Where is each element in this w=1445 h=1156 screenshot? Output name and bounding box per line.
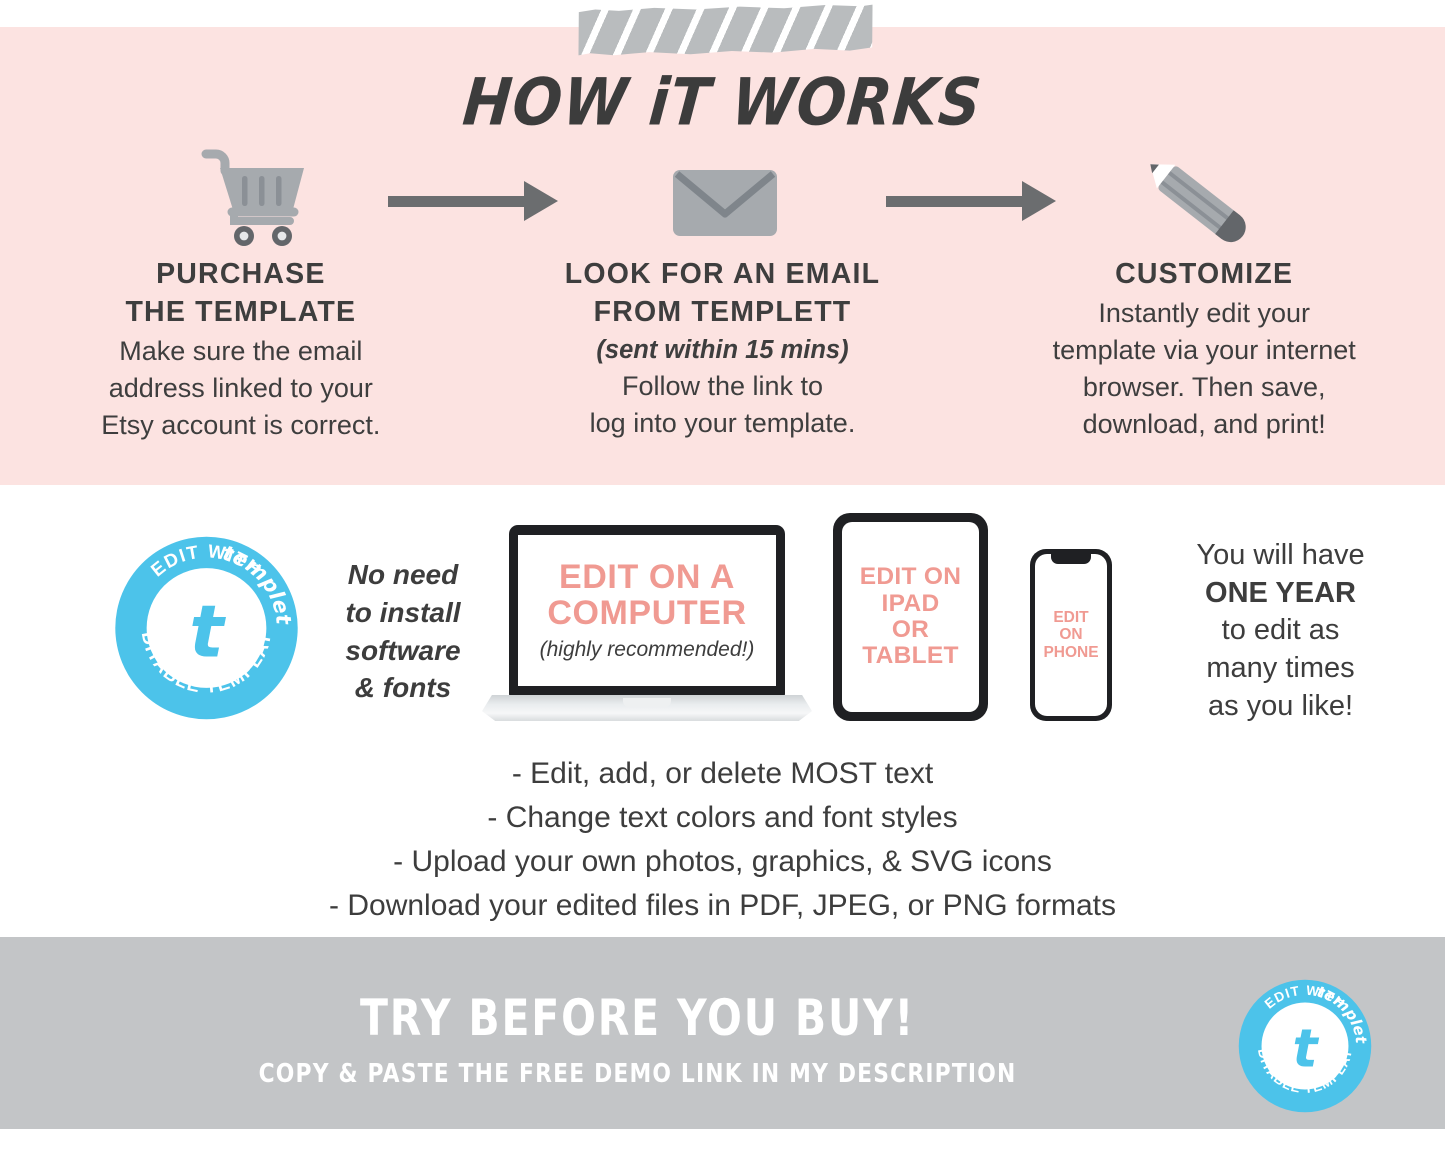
phone-mockup: EDIT ON PHONE: [1030, 549, 1112, 721]
tablet-screen-heading: EDIT ON IPAD OR TABLET: [860, 564, 961, 670]
laptop-mockup: EDIT ON A COMPUTER (highly recommended!): [482, 525, 812, 730]
phone-screen-heading: EDIT ON PHONE: [1043, 609, 1098, 661]
steps-row: PURCHASE THE TEMPLATE Make sure the emai…: [0, 256, 1445, 444]
phone-screen: EDIT ON PHONE: [1035, 554, 1107, 716]
laptop-screen-heading: EDIT ON A COMPUTER: [547, 559, 746, 631]
step-italic-note: (sent within 15 mins): [496, 333, 950, 368]
templett-badge: t EDIT WITH templett EDITABLE TEMPLATE: [104, 533, 309, 723]
footer-subline: COPY & PASTE THE FREE DEMO LINK IN MY DE…: [102, 1059, 1173, 1089]
tablet-mockup: EDIT ON IPAD OR TABLET: [833, 513, 988, 721]
list-item: - Upload your own photos, graphics, & SV…: [0, 840, 1445, 884]
templett-badge-footer: t EDIT WITH templett EDITABLE TEMPLATE: [1232, 977, 1378, 1115]
list-item: - Edit, add, or delete MOST text: [0, 752, 1445, 796]
tablet-screen: EDIT ON IPAD OR TABLET: [842, 522, 979, 712]
list-item: - Download your edited files in PDF, JPE…: [0, 884, 1445, 928]
footer-headline: TRY BEFORE YOU BUY!: [115, 989, 1161, 1047]
laptop-screen-subtext: (highly recommended!): [540, 638, 755, 662]
arrow-right-icon: [886, 192, 1056, 210]
templett-t-letter: t: [189, 591, 226, 675]
step-body: Instantly edit your template via your in…: [977, 295, 1431, 443]
step-purchase: PURCHASE THE TEMPLATE Make sure the emai…: [0, 256, 482, 444]
step-icon-row: [0, 148, 1445, 256]
no-need-note: No need to install software & fonts: [333, 556, 473, 707]
page-title: HOW iT WORKS: [0, 64, 1445, 140]
shopping-cart-icon: [198, 148, 310, 248]
arrow-right-icon: [388, 192, 558, 210]
step-heading: CUSTOMIZE: [977, 256, 1431, 294]
step-body: Make sure the email address linked to yo…: [14, 333, 468, 444]
one-year-note: You will have ONE YEAR to edit as many t…: [1118, 537, 1443, 725]
step-email: LOOK FOR AN EMAIL FROM TEMPLETT (sent wi…: [482, 256, 964, 444]
laptop-screen: EDIT ON A COMPUTER (highly recommended!): [518, 535, 776, 686]
envelope-icon: [673, 170, 777, 236]
step-body: (sent within 15 mins) Follow the link to…: [496, 333, 950, 442]
pencil-icon: [1135, 156, 1260, 248]
step-customize: CUSTOMIZE Instantly edit your template v…: [963, 256, 1445, 444]
step-heading: LOOK FOR AN EMAIL FROM TEMPLETT: [496, 256, 950, 332]
list-item: - Change text colors and font styles: [0, 796, 1445, 840]
phone-notch: [1051, 554, 1091, 564]
washi-tape-icon: [578, 3, 874, 57]
step-heading: PURCHASE THE TEMPLATE: [14, 256, 468, 332]
one-year-highlight: ONE YEAR: [1205, 577, 1356, 609]
laptop-lid: EDIT ON A COMPUTER (highly recommended!): [509, 525, 785, 697]
laptop-trackpad-notch: [623, 698, 671, 707]
templett-t-letter: t: [1292, 1019, 1319, 1080]
feature-list: - Edit, add, or delete MOST text - Chang…: [0, 752, 1445, 928]
